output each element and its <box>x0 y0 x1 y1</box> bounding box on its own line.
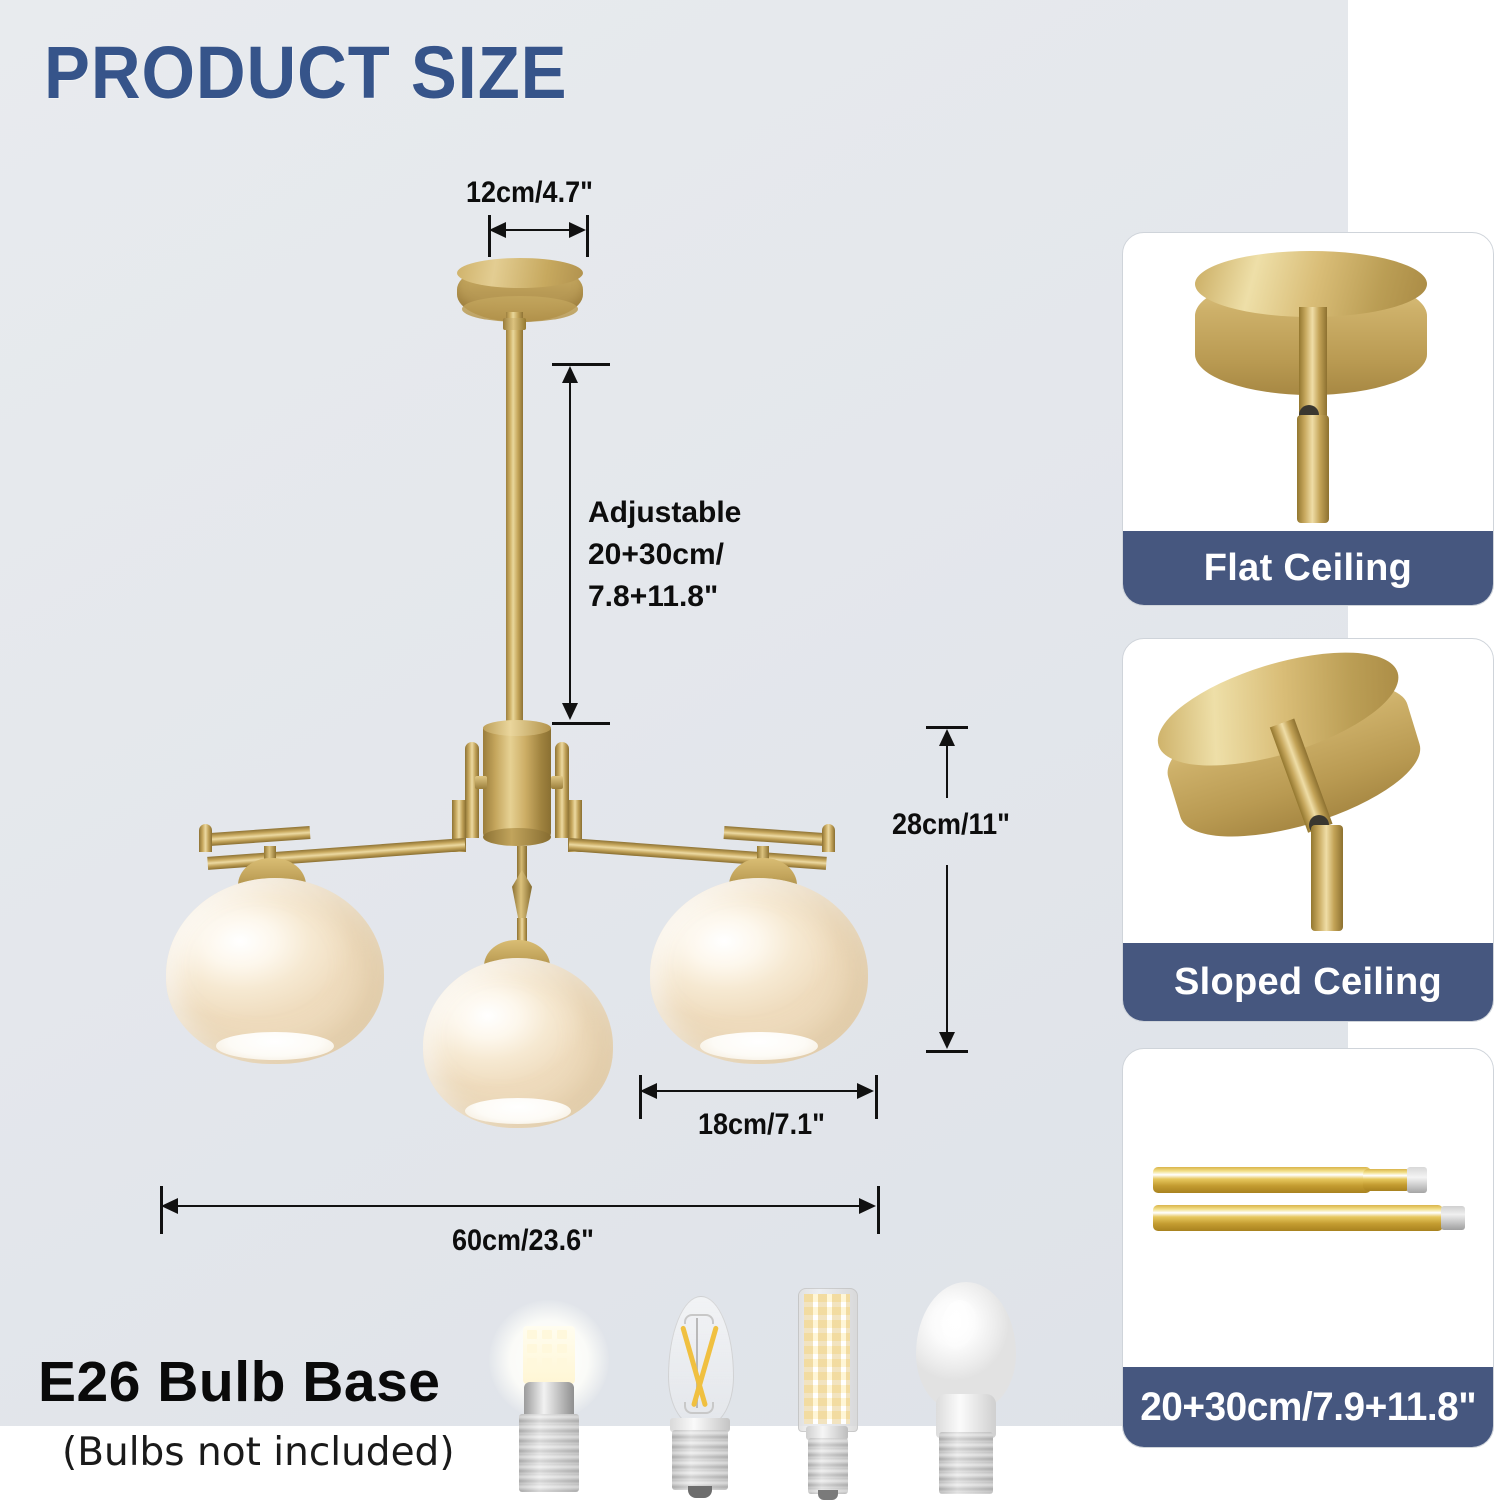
down-rod-collar <box>503 318 526 330</box>
arm-left-outer <box>200 826 311 847</box>
led-globe-bulb-shoulder <box>524 1382 574 1418</box>
extension-rod-long <box>1153 1205 1443 1231</box>
infographic-canvas: PRODUCT SIZE <box>0 0 1500 1500</box>
center-hub-top <box>483 720 551 736</box>
hub-screw-left <box>475 776 487 789</box>
dimension-drop-arrow-down <box>939 1032 955 1049</box>
card-extension-rods-label: 20+30cm/7.9+11.8" <box>1140 1385 1476 1430</box>
arm-left-riser <box>465 742 479 838</box>
arm-left-tip <box>199 824 212 852</box>
bulb-base-note: (Bulbs not included) <box>62 1430 455 1475</box>
dimension-shade-arrow-right <box>857 1083 874 1099</box>
down-rod <box>506 312 523 732</box>
ceiling-canopy-top <box>457 258 583 288</box>
card-flat-ceiling-label: Flat Ceiling <box>1204 547 1412 590</box>
filament-candle-bulb <box>650 1296 750 1500</box>
filament-candle-bulb-filament <box>680 1326 720 1406</box>
adjustable-line-1: Adjustable <box>588 492 741 534</box>
card-flat-ceiling-image <box>1123 233 1493 523</box>
dimension-adjustable-arrow-down <box>562 703 578 720</box>
corn-cob-led-bulb <box>786 1288 872 1500</box>
dimension-adjustable-label: Adjustable 20+30cm/ 7.8+11.8" <box>588 492 741 618</box>
center-hub <box>483 726 551 838</box>
extension-rod-short-coupler <box>1363 1169 1411 1191</box>
card-sloped-ceiling-image <box>1123 639 1493 931</box>
dimension-canopy-tick-right <box>586 215 589 257</box>
adjustable-line-2: 20+30cm/ <box>588 534 741 576</box>
card-extension-rods-image <box>1123 1049 1493 1367</box>
shade-mouth-left <box>216 1032 334 1060</box>
extension-rod-long-tip <box>1441 1206 1465 1230</box>
dimension-shade-arrow-left <box>640 1083 657 1099</box>
card-sloped-ceiling[interactable]: Sloped Ceiling <box>1122 638 1494 1022</box>
canopy-downrod-upper <box>1299 307 1327 417</box>
dimension-shade-tick-right <box>875 1075 878 1119</box>
arm-right-riser <box>555 742 569 838</box>
dimension-drop-rule-lower <box>946 865 948 1043</box>
arm-right-tip <box>822 824 835 852</box>
shade-mouth-right <box>700 1032 818 1060</box>
dimension-overall-tick-right <box>877 1186 880 1234</box>
dimension-overall-arrow-left <box>161 1198 178 1214</box>
card-flat-ceiling-banner: Flat Ceiling <box>1123 531 1493 605</box>
hub-screw-right <box>551 776 563 789</box>
dimension-shade-rule <box>644 1090 872 1092</box>
dimension-overall-width-label: 60cm/23.6" <box>452 1224 594 1258</box>
card-extension-rods[interactable]: 20+30cm/7.9+11.8" <box>1122 1048 1494 1448</box>
canopy-sloped-downrod <box>1311 825 1343 931</box>
adjustable-line-3: 7.8+11.8" <box>588 576 741 618</box>
dimension-canopy-arrow-left <box>489 222 506 238</box>
extension-rod-short <box>1153 1167 1371 1193</box>
extension-rod-short-nut <box>1407 1167 1427 1193</box>
dimension-adjustable-tick-bottom <box>552 722 610 725</box>
shade-mouth-center <box>465 1098 571 1124</box>
canopy-downrod-lower <box>1297 415 1329 523</box>
dimension-drop-arrow-up <box>939 729 955 746</box>
dimension-canopy-arrow-right <box>569 222 586 238</box>
card-sloped-ceiling-banner: Sloped Ceiling <box>1123 943 1493 1021</box>
frosted-a19-bulb <box>906 1282 1026 1500</box>
card-sloped-ceiling-label: Sloped Ceiling <box>1174 961 1442 1004</box>
corn-cob-led-bulb-chips <box>804 1294 850 1424</box>
card-flat-ceiling[interactable]: Flat Ceiling <box>1122 232 1494 606</box>
dimension-adjustable-tick-top <box>552 363 610 366</box>
dimension-drop-label: 28cm/11" <box>892 808 1010 842</box>
dimension-adjustable-arrow-up <box>562 366 578 383</box>
dimension-canopy-width-label: 12cm/4.7" <box>466 176 593 210</box>
dimension-overall-rule <box>165 1205 873 1207</box>
dimension-drop-tick-bottom <box>926 1050 968 1053</box>
dimension-overall-arrow-right <box>859 1198 876 1214</box>
dimension-adjustable-rule <box>569 370 571 718</box>
arm-right-outer <box>724 826 835 847</box>
bulb-base-heading: E26 Bulb Base <box>38 1349 441 1415</box>
dimension-shade-width-label: 18cm/7.1" <box>698 1108 825 1142</box>
center-hub-bottom <box>483 828 551 846</box>
card-extension-rods-banner: 20+30cm/7.9+11.8" <box>1123 1367 1493 1447</box>
led-globe-bulb <box>489 1300 609 1500</box>
